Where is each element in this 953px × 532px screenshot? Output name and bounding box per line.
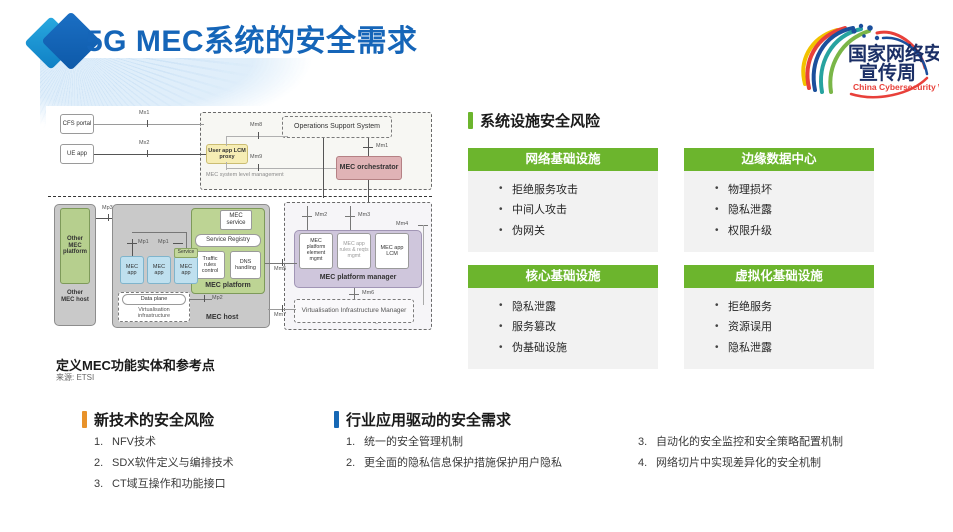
label-mx2: Mx2 bbox=[139, 140, 149, 146]
link-mm2 bbox=[307, 206, 308, 230]
list-item: 1.统一的安全管理机制 bbox=[346, 432, 562, 453]
china-cybersecurity-week-logo: 国家网络安全 宣传周 China Cybersecurity Week bbox=[791, 22, 939, 100]
list-text: SDX软件定义与编排技术 bbox=[112, 453, 234, 474]
link-mp1-bus-drop bbox=[186, 232, 187, 248]
mec-architecture-diagram: MEC system level management CFS portal U… bbox=[46, 106, 436, 356]
card-title: 边缘数据中心 bbox=[684, 148, 874, 171]
node-mec-app-3: MEC app bbox=[174, 256, 198, 284]
link-mm4-down bbox=[423, 225, 424, 305]
card-body: 拒绝服务 资源误用 隐私泄露 bbox=[684, 288, 874, 369]
node-mec-app-lcm: MEC app LCM bbox=[375, 233, 409, 269]
link-mm3 bbox=[350, 206, 351, 230]
label-mp2: Mp2 bbox=[212, 295, 223, 301]
section-header-system-risk: 系统设施安全风险 bbox=[468, 110, 600, 131]
list-item: 1.NFV技术 bbox=[94, 432, 234, 453]
logo-en: China Cybersecurity Week bbox=[853, 82, 939, 92]
section-title-industry-need: 行业应用驱动的安全需求 bbox=[346, 409, 511, 430]
link-mp2 bbox=[190, 299, 212, 300]
list-number: 1. bbox=[94, 432, 112, 453]
node-dns-handling: DNS handling bbox=[230, 251, 261, 279]
label-mm2: Mm2 bbox=[315, 212, 327, 218]
list-text: 更全面的隐私信息保护措施保护用户隐私 bbox=[364, 453, 562, 474]
label-mp1-a: Mp1 bbox=[138, 239, 149, 245]
list-item: 资源误用 bbox=[684, 318, 874, 339]
card-title: 网络基础设施 bbox=[468, 148, 658, 171]
list-text: 自动化的安全监控和安全策略配置机制 bbox=[656, 432, 843, 453]
tick-mx2 bbox=[147, 150, 148, 157]
card-title: 核心基础设施 bbox=[468, 265, 658, 288]
list-item: 中间人攻击 bbox=[468, 201, 658, 222]
node-service-registry: Service Registry bbox=[195, 234, 261, 247]
label-mm5: Mm5 bbox=[274, 266, 286, 272]
card-body: 拒绝服务攻击 中间人攻击 伪网关 bbox=[468, 171, 658, 252]
label-other-mec-host: Other MEC host bbox=[60, 290, 90, 304]
tick-mm7 bbox=[282, 305, 283, 312]
link-mm5 bbox=[265, 263, 297, 264]
tick-mm5 bbox=[282, 259, 283, 266]
card-body: 隐私泄露 服务篡改 伪基础设施 bbox=[468, 288, 658, 369]
diagram-source: 来源: ETSI bbox=[56, 372, 94, 383]
section-header-new-tech-risk: 新技术的安全风险 bbox=[82, 409, 214, 430]
list-number: 4. bbox=[638, 453, 656, 474]
tick-mp1-b bbox=[173, 243, 183, 244]
node-mec-app-1: MEC app bbox=[120, 256, 144, 284]
link-mm8-drop bbox=[226, 136, 227, 146]
list-number: 1. bbox=[346, 432, 364, 453]
node-service-tag: Service bbox=[174, 248, 198, 258]
section-title-new-tech-risk: 新技术的安全风险 bbox=[94, 409, 214, 430]
link-mm9-rise bbox=[226, 162, 227, 170]
slide-header: 5G MEC系统的安全需求 国家网络安全 bbox=[0, 0, 953, 100]
link-mp1-bus bbox=[132, 232, 186, 233]
tick-mm2 bbox=[302, 216, 312, 217]
label-mm1: Mm1 bbox=[376, 143, 388, 149]
list-item: 伪基础设施 bbox=[468, 339, 658, 360]
list-text: CT域互操作和功能接口 bbox=[112, 474, 226, 495]
list-text: 网络切片中实现差异化的安全机制 bbox=[656, 453, 821, 474]
section-title-system-risk: 系统设施安全风险 bbox=[480, 110, 600, 131]
page-title: 5G MEC系统的安全需求 bbox=[86, 16, 418, 60]
node-mec-service: MEC service bbox=[220, 210, 252, 230]
link-mx2 bbox=[94, 154, 206, 155]
card-edge-data-center: 边缘数据中心 物理损坏 隐私泄露 权限升级 bbox=[684, 148, 874, 252]
list-item: 权限升级 bbox=[684, 222, 874, 243]
card-core-infrastructure: 核心基础设施 隐私泄露 服务篡改 伪基础设施 bbox=[468, 265, 658, 369]
link-mp1-a bbox=[132, 239, 133, 256]
label-mec-platform-manager: MEC platform manager bbox=[294, 274, 422, 281]
node-mec-app-2: MEC app bbox=[147, 256, 171, 284]
link-mm8 bbox=[226, 136, 288, 137]
node-mec-platform-element-mgmt: MEC platform element mgmt bbox=[299, 233, 333, 269]
node-mec-orchestrator: MEC orchestrator bbox=[336, 156, 402, 180]
label-mx1: Mx1 bbox=[139, 110, 149, 116]
list-text: 统一的安全管理机制 bbox=[364, 432, 463, 453]
card-network-infrastructure: 网络基础设施 拒绝服务攻击 中间人攻击 伪网关 bbox=[468, 148, 658, 252]
card-title: 虚拟化基础设施 bbox=[684, 265, 874, 288]
list-item: 4.网络切片中实现差异化的安全机制 bbox=[638, 453, 843, 474]
logo-cn-line1: 国家网络安全 bbox=[848, 42, 939, 65]
list-item: 拒绝服务攻击 bbox=[468, 180, 658, 201]
logo-cn-line2: 宣传周 bbox=[859, 61, 916, 84]
section-accent-bar-orange bbox=[82, 411, 87, 428]
label-virtualisation-infrastructure: Virtualisation infrastructure bbox=[122, 307, 186, 320]
label-mm4: Mm4 bbox=[396, 221, 408, 227]
list-item: 隐私泄露 bbox=[684, 339, 874, 360]
tick-mx1 bbox=[147, 120, 148, 127]
list-item: 3.自动化的安全监控和安全策略配置机制 bbox=[638, 432, 843, 453]
label-mp1-b: Mp1 bbox=[158, 239, 169, 245]
node-cfs-portal: CFS portal bbox=[60, 114, 94, 134]
section-header-industry-need: 行业应用驱动的安全需求 bbox=[334, 409, 511, 430]
tick-mm8 bbox=[258, 132, 259, 139]
label-mec-system-level-management: MEC system level management bbox=[206, 172, 284, 178]
list-item: 2.SDX软件定义与编排技术 bbox=[94, 453, 234, 474]
node-ue-app: UE app bbox=[60, 144, 94, 164]
label-mm7: Mm7 bbox=[274, 312, 286, 318]
list-new-tech-risk: 1.NFV技术 2.SDX软件定义与编排技术 3.CT域互操作和功能接口 bbox=[94, 432, 234, 495]
card-virtualisation-infrastructure: 虚拟化基础设施 拒绝服务 资源误用 隐私泄露 bbox=[684, 265, 874, 369]
section-accent-bar-green bbox=[468, 112, 473, 129]
tick-mp1-a bbox=[127, 243, 137, 244]
list-item: 隐私泄露 bbox=[468, 297, 658, 318]
slide-root: 5G MEC系统的安全需求 国家网络安全 bbox=[0, 0, 953, 532]
card-body: 物理损坏 隐私泄露 权限升级 bbox=[684, 171, 874, 252]
list-number: 2. bbox=[346, 453, 364, 474]
label-mm8: Mm8 bbox=[250, 122, 262, 128]
label-mm9: Mm9 bbox=[250, 154, 262, 160]
label-mm3: Mm3 bbox=[358, 212, 370, 218]
list-item: 3.CT域互操作和功能接口 bbox=[94, 474, 234, 495]
node-operations-support-system: Operations Support System bbox=[282, 116, 392, 138]
label-mm6: Mm6 bbox=[362, 290, 374, 296]
label-mec-host: MEC host bbox=[206, 314, 238, 321]
list-number: 3. bbox=[94, 474, 112, 495]
tick-mm9 bbox=[258, 164, 259, 171]
tick-mp3 bbox=[108, 214, 109, 221]
list-industry-need-left: 1.统一的安全管理机制 2.更全面的隐私信息保护措施保护用户隐私 bbox=[346, 432, 562, 474]
list-number: 3. bbox=[638, 432, 656, 453]
list-item: 伪网关 bbox=[468, 222, 658, 243]
link-mm9 bbox=[226, 168, 344, 169]
list-item: 2.更全面的隐私信息保护措施保护用户隐私 bbox=[346, 453, 562, 474]
link-mx1 bbox=[94, 124, 204, 125]
list-text: NFV技术 bbox=[112, 432, 156, 453]
node-data-plane: Data plane bbox=[122, 294, 186, 305]
node-other-mec-platform: Other MEC platform bbox=[60, 208, 90, 284]
tick-mm3 bbox=[345, 216, 355, 217]
list-number: 2. bbox=[94, 453, 112, 474]
node-mec-app-rules-reqts-mgmt: MEC app rules & reqts mgmt bbox=[337, 233, 371, 269]
list-item: 物理损坏 bbox=[684, 180, 874, 201]
label-mec-platform: MEC platform bbox=[191, 282, 265, 289]
node-virtualisation-infrastructure-manager: Virtualisation Infrastructure Manager bbox=[294, 299, 414, 323]
section-accent-bar-blue bbox=[334, 411, 339, 428]
list-item: 服务篡改 bbox=[468, 318, 658, 339]
node-user-app-lcm-proxy: User app LCM proxy bbox=[206, 144, 248, 164]
list-item: 拒绝服务 bbox=[684, 297, 874, 318]
tick-mm1 bbox=[363, 147, 373, 148]
list-industry-need-right: 3.自动化的安全监控和安全策略配置机制 4.网络切片中实现差异化的安全机制 bbox=[638, 432, 843, 474]
tick-mm6 bbox=[349, 294, 359, 295]
trunk-oss-down bbox=[323, 138, 324, 198]
list-item: 隐私泄露 bbox=[684, 201, 874, 222]
separator-system-host bbox=[48, 196, 432, 197]
tick-mp2 bbox=[204, 295, 205, 302]
node-traffic-rules-control: Traffic rules control bbox=[195, 251, 225, 279]
